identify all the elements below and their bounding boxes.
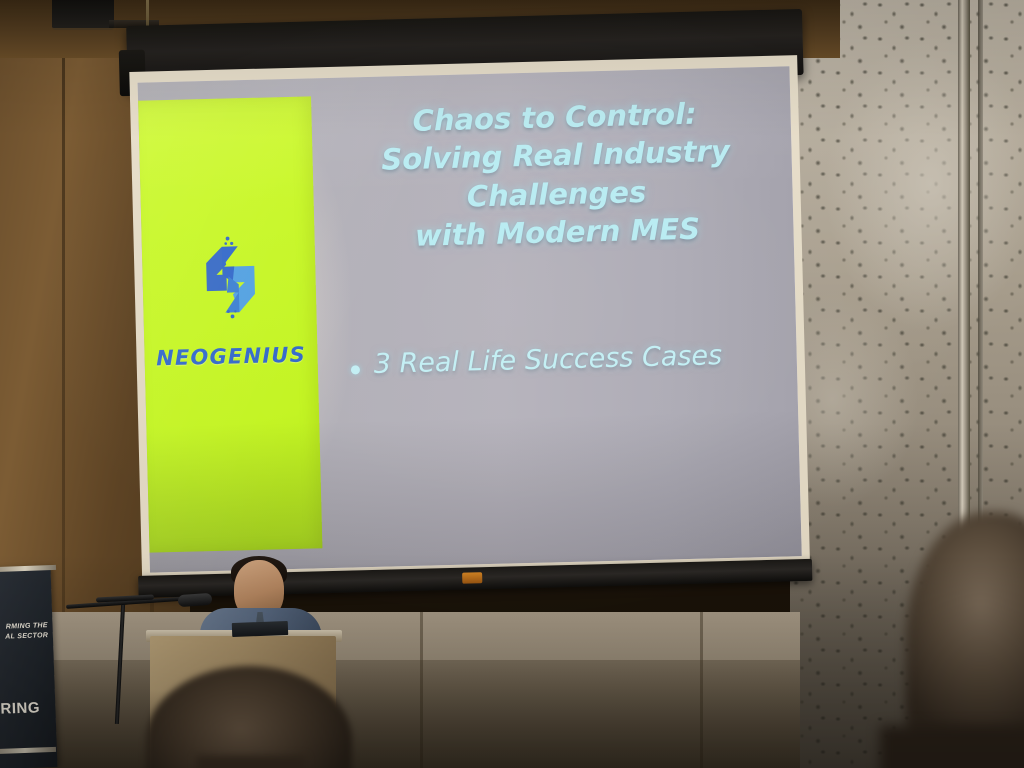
audience-neck-left	[196, 756, 306, 768]
slide-vignette	[138, 66, 802, 572]
presentation-slide: NEOGENIUS Chaos to Control: Solving Real…	[138, 66, 802, 572]
event-banner	[0, 567, 57, 768]
presentation-photo-scene: NEOGENIUS Chaos to Control: Solving Real…	[0, 0, 1024, 768]
microphone-head	[178, 593, 213, 607]
ceiling-speaker	[52, 0, 114, 30]
banner-tagline: RMING THE AL SECTOR	[0, 621, 48, 643]
banner-tagline-line-2: AL SECTOR	[0, 631, 48, 643]
projector-screen: NEOGENIUS Chaos to Control: Solving Real…	[128, 3, 813, 630]
audience-shoulder-right	[880, 726, 1024, 768]
screen-brand-badge	[462, 572, 482, 584]
banner-headline: RING	[0, 699, 40, 717]
screen-surface: NEOGENIUS Chaos to Control: Solving Real…	[138, 66, 802, 572]
presenter-laptop	[232, 621, 288, 637]
